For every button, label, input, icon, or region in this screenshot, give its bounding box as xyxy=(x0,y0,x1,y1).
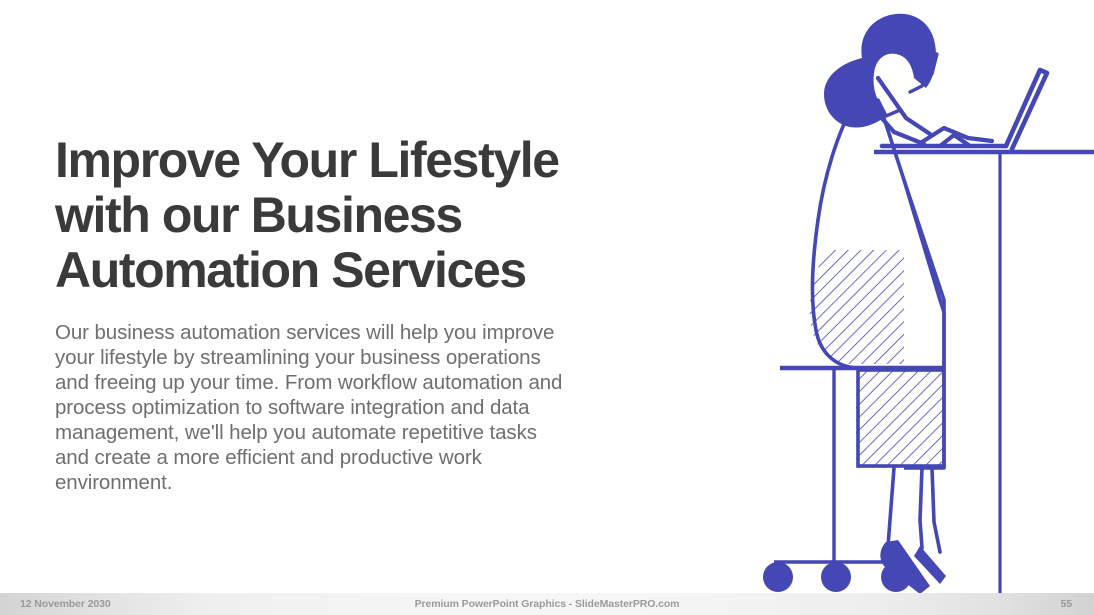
body-paragraph: Our business automation services will he… xyxy=(55,320,575,495)
legs xyxy=(888,468,940,552)
woman-working-at-laptop-illustration xyxy=(754,0,1094,600)
slide-footer: 12 November 2030 Premium PowerPoint Grap… xyxy=(0,593,1094,615)
stool-wheel xyxy=(763,562,793,592)
skirt-lower-block xyxy=(854,368,950,468)
page-title: Improve Your Lifestyle with our Business… xyxy=(55,133,585,298)
illustration-svg xyxy=(754,0,1094,600)
stool-wheel xyxy=(821,562,851,592)
hand-on-keyboard xyxy=(922,128,992,146)
footer-page-number: 55 xyxy=(1061,593,1072,615)
slide: Improve Your Lifestyle with our Business… xyxy=(0,0,1094,615)
text-column: Improve Your Lifestyle with our Business… xyxy=(55,133,585,495)
footer-credit: Premium PowerPoint Graphics - SlideMaste… xyxy=(0,593,1094,615)
